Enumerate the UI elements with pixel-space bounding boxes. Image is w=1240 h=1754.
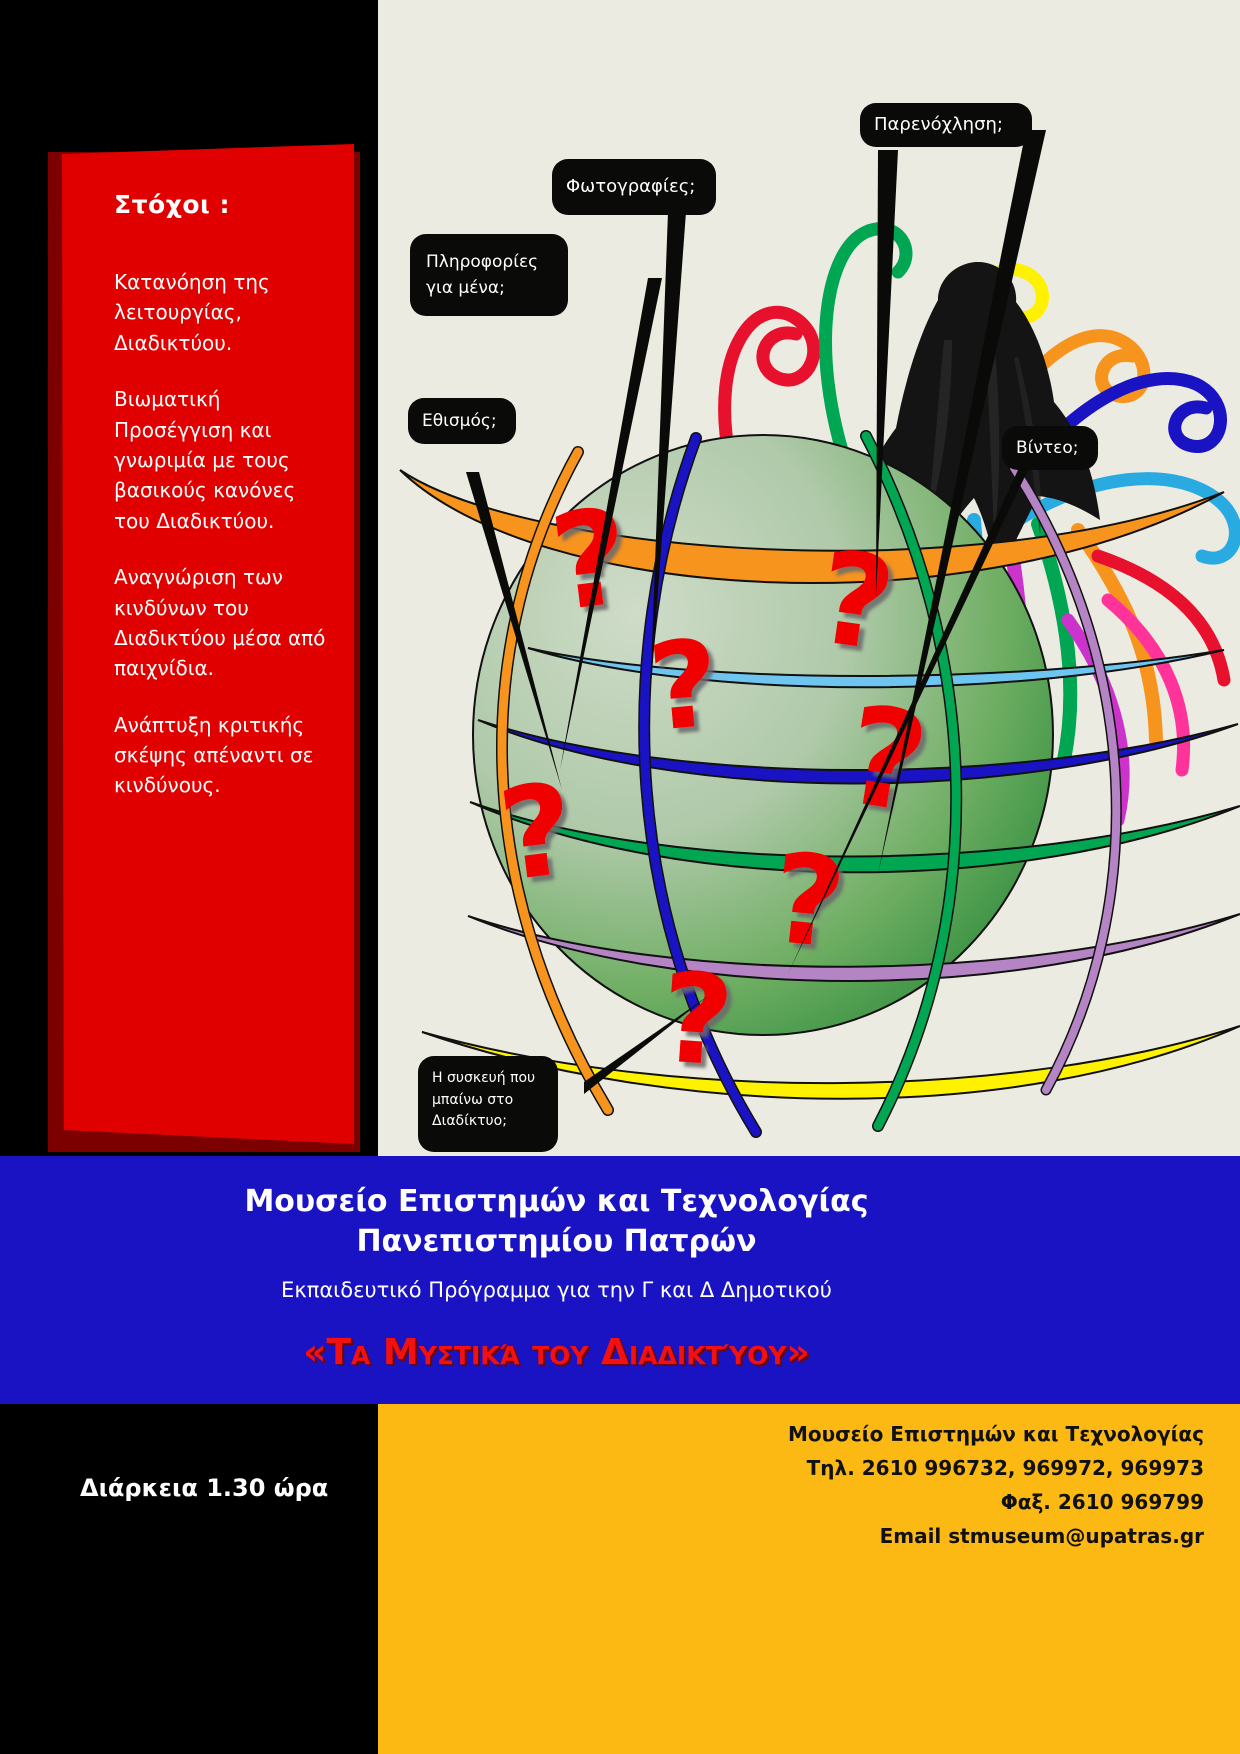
bubble-addiction-label: Εθισμός; [422,408,502,434]
bubble-device-label: Η συσκευή που μπαίνω στο Διαδίκτυο; [432,1068,544,1133]
artwork-panel: ? ? ? ? ? ? ? Παρενόχληση; [378,0,1240,1156]
bubble-device[interactable]: Η συσκευή που μπαίνω στο Διαδίκτυο; [418,1056,558,1152]
contact-email[interactable]: Email stmuseum@upatras.gr [880,1524,1204,1548]
museum-banner: Μουσείο Επιστημών και Τεχνολογίας Πανεπι… [0,1156,1240,1404]
bubble-info-about-me[interactable]: Πληροφορίες για μένα; [410,234,568,316]
question-mark: ? [765,827,852,978]
contact-box: Μουσείο Επιστημών και Τεχνολογίας Τηλ. 2… [378,1404,1240,1754]
museum-name-line2: Πανεπιστημίου Πατρών [0,1224,1113,1259]
contact-org: Μουσείο Επιστημών και Τεχνολογίας [788,1422,1204,1446]
question-mark: ? [643,614,724,759]
goals-box: Στόχοι : Κατανόηση της λειτουργίας, Διαδ… [62,144,354,1144]
bubble-addiction[interactable]: Εθισμός; [408,398,516,444]
program-title: «Τα Μυστικά του Διαδικτύου» [0,1332,1113,1373]
question-mark: ? [656,946,738,1095]
goals-item: Βιωματική Προσέγγιση και γνωριμία με του… [114,384,326,536]
bubble-video-label: Βίντεο; [1016,435,1084,461]
globe-illustration: ? ? ? ? ? ? ? [378,0,1240,1156]
poster-root: ? ? ? ? ? ? ? Παρενόχληση; [0,0,1240,1754]
contact-fax: Φαξ. 2610 969799 [1001,1490,1204,1514]
goals-item: Ανάπτυξη κριτικής σκέψης απέναντι σε κιν… [114,710,326,801]
goals-item: Αναγνώριση των κινδύνων του Διαδικτύου μ… [114,562,326,684]
bubble-video[interactable]: Βίντεο; [1002,426,1098,470]
program-subtitle: Εκπαιδευτικό Πρόγραμμα για την Γ και Δ Δ… [0,1278,1113,1302]
bubble-photos[interactable]: Φωτογραφίες; [552,159,716,215]
bubble-harassment[interactable]: Παρενόχληση; [860,103,1032,147]
duration-label: Διάρκεια 1.30 ώρα [80,1474,380,1502]
goals-item: Κατανόηση της λειτουργίας, Διαδικτύου. [114,267,326,358]
goals-title: Στόχοι : [114,190,326,219]
bubble-harassment-label: Παρενόχληση; [874,111,1018,139]
museum-name-line1: Μουσείο Επιστημών και Τεχνολογίας [0,1184,1113,1219]
contact-phone: Τηλ. 2610 996732, 969972, 969973 [807,1456,1204,1480]
bubble-info-about-me-label: Πληροφορίες για μένα; [426,249,552,302]
bubble-photos-label: Φωτογραφίες; [566,173,702,201]
